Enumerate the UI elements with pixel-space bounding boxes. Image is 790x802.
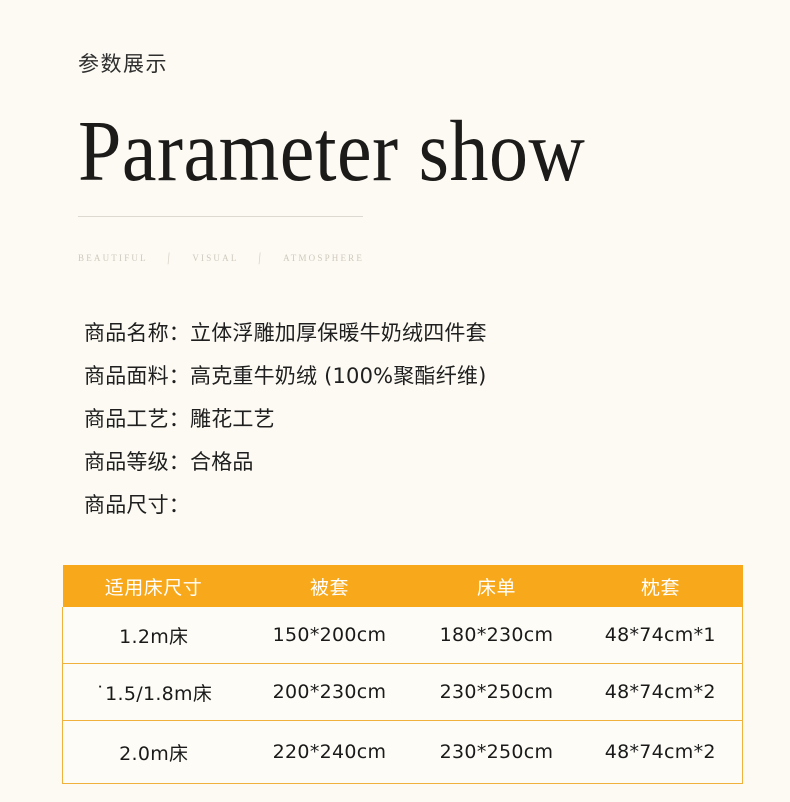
eyebrow-separator-icon: ╱ (255, 252, 266, 265)
column-header-duvet-cover: 被套 (245, 565, 415, 607)
size-table: 适用床尺寸 被套 床单 枕套 1.2m床 150*200cm 180*230cm… (62, 565, 743, 784)
header-block: 参数展示 Parameter show (78, 52, 738, 185)
divider-rule (78, 216, 363, 217)
cell-bed-sheet: 180*230cm (415, 607, 579, 664)
cell-duvet-cover: 220*240cm (245, 721, 415, 784)
cell-bed-size: ˙1.5/1.8m床 (63, 664, 245, 721)
eyebrow-word-beautiful: BEAUTIFUL (78, 253, 148, 263)
eyebrow-word-visual: VISUAL (192, 253, 238, 263)
column-header-bed-sheet: 床单 (415, 565, 579, 607)
product-spec-list: 商品名称：立体浮雕加厚保暖牛奶绒四件套 商品面料：高克重牛奶绒 (100%聚酯纤… (84, 312, 744, 527)
cell-duvet-cover: 150*200cm (245, 607, 415, 664)
column-header-bed-size: 适用床尺寸 (63, 565, 245, 607)
size-table-head: 适用床尺寸 被套 床单 枕套 (63, 565, 743, 607)
cell-bed-size: 2.0m床 (63, 721, 245, 784)
table-row: ˙1.5/1.8m床 200*230cm 230*250cm 48*74cm*2 (63, 664, 743, 721)
cell-bed-sheet: 230*250cm (415, 721, 579, 784)
cell-duvet-cover: 200*230cm (245, 664, 415, 721)
parameter-show-page: 参数展示 Parameter show BEAUTIFUL ╱ VISUAL ╱… (0, 0, 790, 802)
size-table-body: 1.2m床 150*200cm 180*230cm 48*74cm*1 ˙1.5… (63, 607, 743, 784)
spec-line-name: 商品名称：立体浮雕加厚保暖牛奶绒四件套 (84, 312, 744, 355)
eyebrow-tagline: BEAUTIFUL ╱ VISUAL ╱ ATMOSPHERE (78, 253, 364, 264)
eyebrow-separator-icon: ╱ (164, 252, 175, 265)
cell-pillowcase: 48*74cm*2 (579, 664, 743, 721)
eyebrow-word-atmosphere: ATMOSPHERE (283, 253, 364, 263)
table-header-row: 适用床尺寸 被套 床单 枕套 (63, 565, 743, 607)
cell-pillowcase: 48*74cm*1 (579, 607, 743, 664)
spec-line-size: 商品尺寸： (84, 484, 744, 527)
spec-line-fabric: 商品面料：高克重牛奶绒 (100%聚酯纤维) (84, 355, 744, 398)
page-kicker: 参数展示 (78, 52, 738, 77)
table-row: 2.0m床 220*240cm 230*250cm 48*74cm*2 (63, 721, 743, 784)
cell-bed-size: 1.2m床 (63, 607, 245, 664)
table-row: 1.2m床 150*200cm 180*230cm 48*74cm*1 (63, 607, 743, 664)
cell-pillowcase: 48*74cm*2 (579, 721, 743, 784)
column-header-pillowcase: 枕套 (579, 565, 743, 607)
spec-line-craft: 商品工艺：雕花工艺 (84, 398, 744, 441)
spec-line-grade: 商品等级：合格品 (84, 441, 744, 484)
page-title: Parameter show (78, 107, 738, 194)
cell-bed-sheet: 230*250cm (415, 664, 579, 721)
